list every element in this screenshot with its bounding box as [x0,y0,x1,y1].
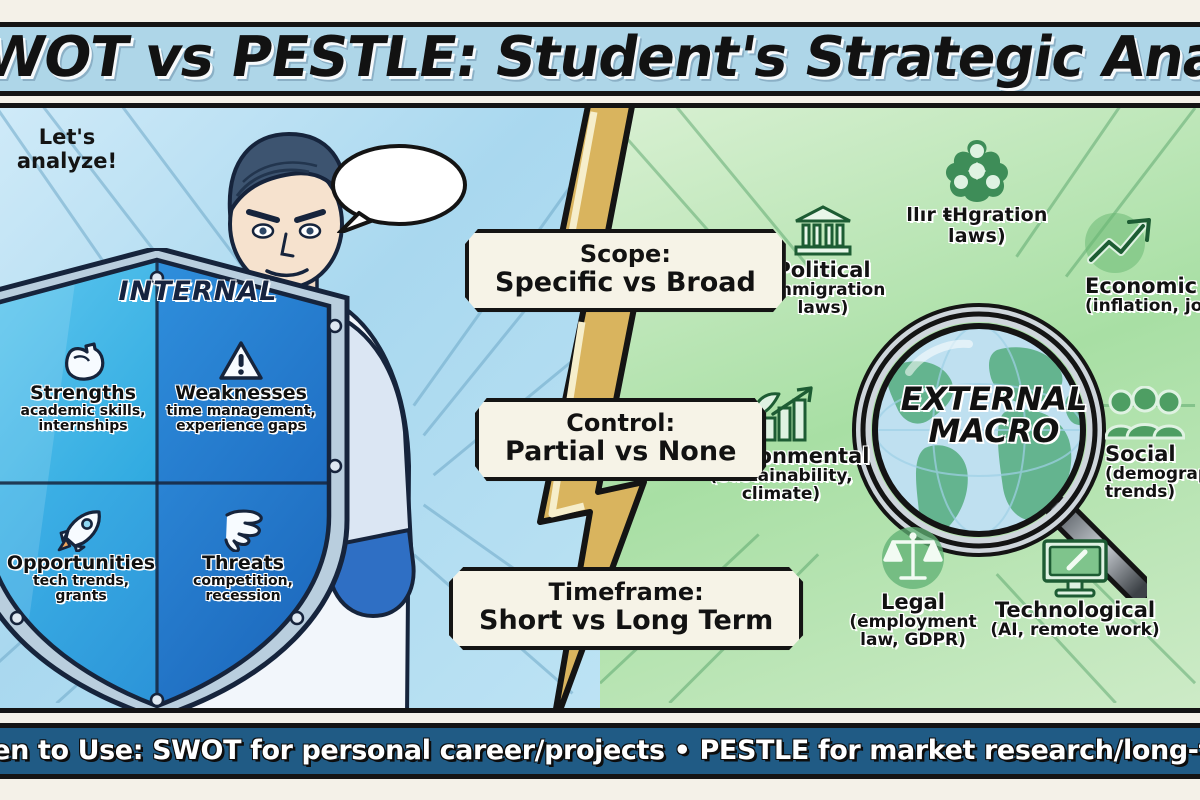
quadrant-title: Weaknesses [165,384,317,404]
warning-icon [218,340,264,382]
rocket-icon [57,508,105,552]
swot-quadrant-strengths: Strengths academic skills, internships [7,340,159,435]
title-bar: SWOT vs PESTLE: Student's Strategic Anal… [0,22,1200,96]
government-building-icon [792,204,854,258]
pestle-title: Social [1105,443,1200,465]
scales-of-justice-icon [879,526,947,590]
comparison-line1: Timeframe: [479,580,773,606]
page-title: SWOT vs PESTLE: Student's Strategic Anal… [0,30,1200,86]
swot-quadrant-opportunities: Opportunities tech trends, grants [5,508,157,605]
quadrant-desc: time management, experience gaps [165,404,317,435]
swot-shield [0,248,357,713]
pestle-item-economic[interactable]: Economic (inflation, jobs) [1085,212,1200,315]
monitor-icon [1039,538,1111,598]
comparison-banner-timeframe[interactable]: Timeframe: Short vs Long Term [449,567,803,650]
pestle-title: Legal [829,591,997,613]
shield-internal-label: INTERNAL [93,276,303,307]
comparison-line1: Scope: [495,242,756,268]
quadrant-title: Strengths [7,384,159,404]
pestle-item-social[interactable]: Social (demographic trends) [1105,386,1200,502]
speech-bubble-text: Let's analyze! [0,126,137,173]
swot-quadrant-weaknesses: Weaknesses time management, experience g… [165,340,317,435]
bicep-icon [60,340,106,382]
speech-bubble [329,141,469,233]
comparison-banner-control[interactable]: Control: Partial vs None [475,398,766,481]
quadrant-title: Threats [167,554,319,574]
comparison-line1: Control: [505,411,736,437]
pestle-item-legal[interactable]: Legal (employment law, GDPR) [829,526,997,650]
pestle-desc: (inflation, jobs) [1085,297,1200,315]
comparison-banner-scope[interactable]: Scope: Specific vs Broad [465,229,786,312]
pestle-title: Technological [975,599,1175,621]
external-macro-line2: MACRO [929,412,1060,450]
comparison-line2: Specific vs Broad [495,268,756,297]
footer-banner: When to Use: SWOT for personal career/pr… [0,723,1200,779]
pestle-item-top-garbled[interactable]: llır ŧHgration laws) [877,138,1077,246]
pestle-item-technological[interactable]: Technological (AI, remote work) [975,538,1175,639]
pestle-desc: (employment law, GDPR) [829,613,997,650]
cluster-icon [939,138,1015,204]
people-group-icon [1105,386,1185,442]
quadrant-desc: tech trends, grants [5,574,157,605]
comparison-line2: Partial vs None [505,437,736,466]
pestle-title: Economic [1085,275,1200,297]
infographic-canvas: SWOT vs PESTLE: Student's Strategic Anal… [0,0,1200,800]
quadrant-title: Opportunities [5,554,157,574]
swot-quadrant-threats: Threats competition, recession [167,508,319,605]
footer-text: When to Use: SWOT for personal career/pr… [0,735,1200,766]
pestle-desc: (AI, remote work) [975,621,1175,639]
comparison-line2: Short vs Long Term [479,606,773,635]
pestle-desc: llır ŧHgration laws) [877,205,1077,246]
main-panel: INTERNAL Strengths academic skills, inte… [0,103,1200,713]
quadrant-desc: competition, recession [167,574,319,605]
trend-up-arrow-icon [1085,212,1163,274]
tornado-icon [219,508,267,552]
external-macro-label: EXTERNAL MACRO [869,383,1119,447]
pestle-desc: (demographic trends) [1105,465,1200,502]
quadrant-desc: academic skills, internships [7,404,159,435]
